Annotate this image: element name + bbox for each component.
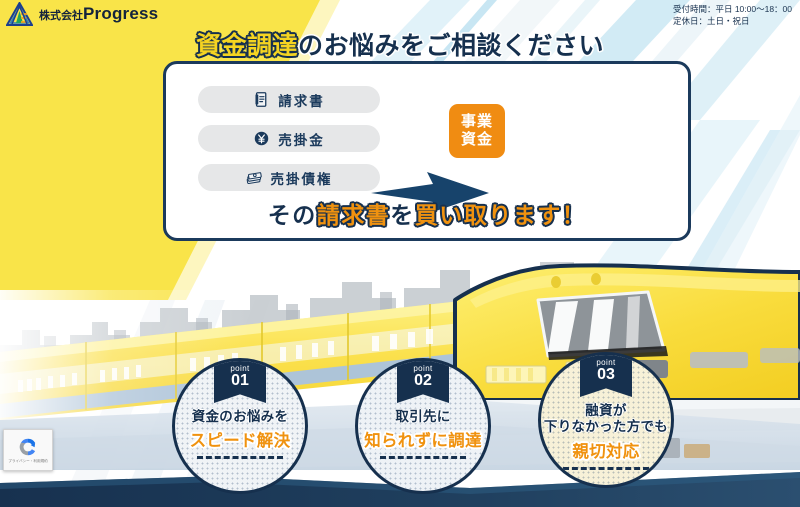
banknote-stack-icon xyxy=(246,169,263,186)
point-highlight: スピード解決 xyxy=(175,427,305,451)
point-text-line-1: 取引先に xyxy=(358,409,488,425)
hours-line-1: 受付時間：平日 10:00〜18：00 xyxy=(673,3,792,15)
landing-page-hero: 株式会社Progress 受付時間：平日 10:00〜18：00 定休日：土日・… xyxy=(0,0,800,507)
point-body: 資金のお悩みを スピード解決 xyxy=(175,409,305,459)
point-body: 取引先に 知られずに調達 xyxy=(358,409,488,459)
recaptcha-text: プライバシー・利用規約 xyxy=(8,459,47,463)
business-hours: 受付時間：平日 10:00〜18：00 定休日：土日・祝日 xyxy=(673,3,792,28)
point-number: 02 xyxy=(414,373,432,390)
point-circle-03: point 03 融資が 下りなかった方でも 親切対応 xyxy=(538,352,674,488)
asset-pill-label: 請求書 xyxy=(278,90,325,110)
point-underline xyxy=(380,456,466,459)
asset-type-list: 請求書 売掛金 売掛債権 xyxy=(198,86,380,203)
page-title: 資金調達のお悩みをご相談ください xyxy=(0,26,800,62)
tagline-accent-2: 買い取ります！ xyxy=(415,202,587,228)
point-underline xyxy=(563,467,649,470)
brand-logo[interactable]: 株式会社Progress xyxy=(0,0,190,28)
invoice-document-icon xyxy=(253,91,270,108)
fund-box-line-1: 事業 xyxy=(461,113,493,131)
point-number: 03 xyxy=(597,367,615,384)
yen-coin-icon xyxy=(253,130,270,147)
asset-pill-receivable-claim[interactable]: 売掛債権 xyxy=(198,164,380,191)
point-circle-01: point 01 資金のお悩みを スピード解決 xyxy=(172,358,308,494)
point-text-line-2: 下りなかった方でも xyxy=(541,419,671,435)
brand-title: Progress xyxy=(83,4,158,23)
recaptcha-icon xyxy=(17,436,39,458)
card-tagline: その請求書を買い取ります！ xyxy=(163,196,691,230)
headline-rest: のお悩みをご相談ください xyxy=(298,32,604,60)
tagline-part-2: を xyxy=(390,202,415,228)
point-highlight: 親切対応 xyxy=(541,438,671,462)
progress-triangle-logo-icon xyxy=(6,2,33,27)
point-circle-02: point 02 取引先に 知られずに調達 xyxy=(355,358,491,494)
asset-pill-label: 売掛債権 xyxy=(271,168,333,188)
fund-box-line-2: 資金 xyxy=(461,131,493,149)
tagline-part-1: その xyxy=(268,202,317,228)
tagline-accent-1: 請求書 xyxy=(317,202,391,228)
hours-line-2: 定休日：土日・祝日 xyxy=(673,15,792,27)
fund-destination-box: 事業 資金 xyxy=(449,104,505,158)
point-underline xyxy=(197,456,283,459)
point-text-line-1: 融資が xyxy=(541,403,671,419)
site-header: 株式会社Progress 受付時間：平日 10:00〜18：00 定休日：土日・… xyxy=(0,0,800,28)
asset-pill-receivable-money[interactable]: 売掛金 xyxy=(198,125,380,152)
point-body: 融資が 下りなかった方でも 親切対応 xyxy=(541,403,671,470)
brand-name: 株式会社Progress xyxy=(39,4,158,24)
point-highlight: 知られずに調達 xyxy=(358,427,488,451)
headline-accent: 資金調達 xyxy=(196,32,298,60)
point-text-line-1: 資金のお悩みを xyxy=(175,409,305,425)
asset-pill-label: 売掛金 xyxy=(278,129,325,149)
asset-pill-invoice[interactable]: 請求書 xyxy=(198,86,380,113)
brand-prefix: 株式会社 xyxy=(39,10,83,22)
recaptcha-badge[interactable]: プライバシー・利用規約 xyxy=(3,429,53,471)
point-number: 01 xyxy=(231,373,249,390)
